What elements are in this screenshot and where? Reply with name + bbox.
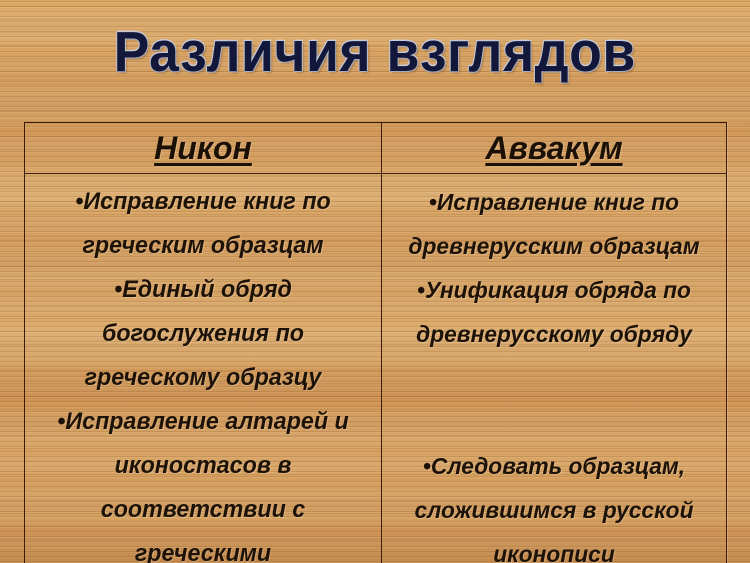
page-title-container: Различия взглядов [0, 22, 750, 82]
bullet-list-nikon: •Исправление книг по греческим образцам … [29, 180, 377, 563]
table-cell-avvakum: •Исправление книг по древнерусским образ… [382, 174, 727, 563]
table-header-row: Никон Аввакум [25, 123, 727, 174]
bullet-line: •Унификация обряда по [391, 268, 717, 312]
column-header-label-avvakum: Аввакум [485, 131, 622, 165]
bullet-list-avvakum: •Исправление книг по древнерусским образ… [386, 180, 722, 563]
table-header-cell-avvakum: Аввакум [382, 123, 727, 174]
bullet-line: соответствии с [34, 488, 372, 532]
bullet-line: иконописи [391, 532, 717, 563]
comparison-table: Никон Аввакум •Исправление книг по грече… [24, 122, 727, 563]
bullet-line: богослужения по [34, 312, 372, 356]
bullet-line-spacer [391, 400, 717, 444]
bullet-line: греческими [34, 532, 372, 563]
bullet-line: иконостасов в [34, 444, 372, 488]
bullet-line: •Исправление алтарей и [34, 400, 372, 444]
bullet-line: греческому образцу [34, 356, 372, 400]
bullet-line: древнерусскому обряду [391, 312, 717, 356]
bullet-line: •Следовать образцам, [391, 444, 717, 488]
page-title: Различия взглядов [114, 22, 636, 82]
slide-canvas: Различия взглядов Никон Аввакум •Исправл… [0, 0, 750, 563]
table-header-cell-nikon: Никон [25, 123, 382, 174]
bullet-line: •Исправление книг по [391, 180, 717, 224]
bullet-line: древнерусским образцам [391, 224, 717, 268]
bullet-line-spacer [391, 356, 717, 400]
table-body-row: •Исправление книг по греческим образцам … [25, 174, 727, 563]
column-header-label-nikon: Никон [154, 131, 252, 165]
bullet-line: •Исправление книг по [34, 180, 372, 224]
bullet-line: сложившимся в русской [391, 488, 717, 532]
bullet-line: •Единый обряд [34, 268, 372, 312]
table-cell-nikon: •Исправление книг по греческим образцам … [25, 174, 382, 563]
bullet-line: греческим образцам [34, 224, 372, 268]
